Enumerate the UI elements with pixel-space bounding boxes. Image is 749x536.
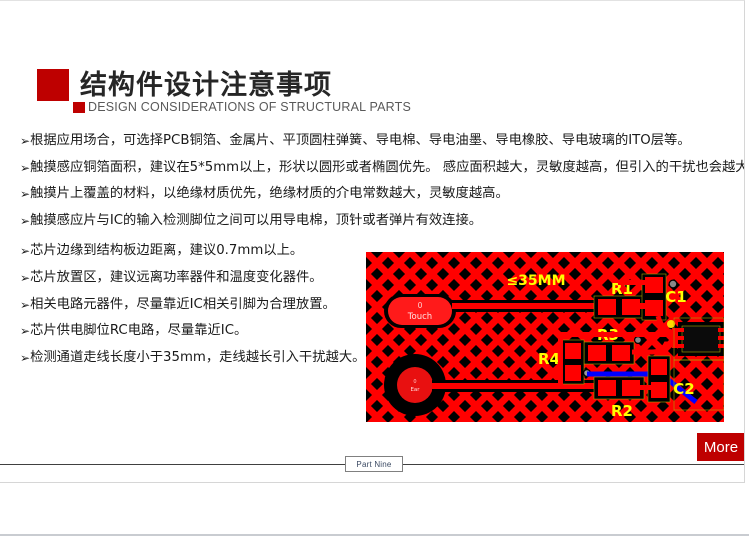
page-title: 结构件设计注意事项 DESIGN CONSIDERATIONS OF STRUC… (37, 67, 517, 119)
bullet-marker-icon: ➢ (20, 243, 30, 259)
slide-canvas: 结构件设计注意事项 DESIGN CONSIDERATIONS OF STRUC… (0, 0, 745, 483)
title-english: DESIGN CONSIDERATIONS OF STRUCTURAL PART… (88, 100, 411, 114)
title-chinese: 结构件设计注意事项 (80, 63, 332, 102)
part-label-badge: Part Nine (345, 456, 403, 472)
bullet-marker-icon: ➢ (20, 350, 30, 366)
part-label-text: Part Nine (356, 460, 391, 469)
subtitle-accent-square (73, 102, 85, 113)
list-item-text: 检测通道走线长度小于35mm，走线越长引入干扰越大。 (30, 350, 365, 367)
more-button[interactable]: More (697, 433, 745, 461)
bullet-marker-icon: ➢ (20, 213, 30, 229)
list-item-text: 根据应用场合，可选择PCB铜箔、金属片、平顶圆柱弹簧、导电棉、导电油墨、导电橡胶… (30, 133, 691, 150)
bullet-marker-icon: ➢ (20, 270, 30, 286)
list-item: ➢ 触摸片上覆盖的材料，以绝缘材质优先，绝缘材质的介电常数越大，灵敏度越高。 (20, 186, 740, 203)
svg-text:≤35MM: ≤35MM (506, 273, 565, 289)
svg-text:C1: C1 (665, 288, 686, 306)
list-item-text: 触摸感应铜箔面积，建议在5*5mm以上，形状以圆形或者椭圆优先。 感应面积越大，… (30, 160, 745, 177)
list-item: ➢ 根据应用场合，可选择PCB铜箔、金属片、平顶圆柱弹簧、导电棉、导电油墨、导电… (20, 133, 740, 150)
list-item-text: 芯片边缘到结构板边距离，建议0.7mm以上。 (30, 243, 303, 260)
list-item-text: 芯片供电脚位RC电路，尽量靠近IC。 (30, 323, 247, 340)
pcb-layout-image: 0 Touch 0 Ear R1 (366, 252, 724, 422)
svg-text:0: 0 (413, 379, 416, 385)
list-item-text: 芯片放置区，建议远离功率器件和温度变化器件。 (30, 270, 323, 287)
svg-text:Ear: Ear (410, 387, 420, 393)
list-item-text: 触摸感应片与IC的输入检测脚位之间可以用导电棉，顶针或者弹片有效连接。 (30, 213, 482, 230)
more-button-label: More (704, 439, 738, 456)
bullet-marker-icon: ➢ (20, 160, 30, 176)
list-item-text: 触摸片上覆盖的材料，以绝缘材质优先，绝缘材质的介电常数越大，灵敏度越高。 (30, 186, 509, 203)
title-accent-square (37, 69, 69, 101)
page-bottom-area (0, 484, 749, 536)
svg-text:Touch: Touch (407, 312, 432, 322)
svg-text:0: 0 (418, 301, 423, 310)
bullet-marker-icon: ➢ (20, 297, 30, 313)
list-item-text: 相关电路元器件，尽量靠近IC相关引脚为合理放置。 (30, 297, 336, 314)
bullet-marker-icon: ➢ (20, 323, 30, 339)
svg-text:R2: R2 (611, 402, 633, 420)
svg-text:C2: C2 (673, 380, 694, 398)
svg-text:R4: R4 (538, 350, 560, 368)
list-item: ➢ 触摸感应铜箔面积，建议在5*5mm以上，形状以圆形或者椭圆优先。 感应面积越… (20, 160, 740, 177)
bullet-marker-icon: ➢ (20, 133, 30, 149)
list-item: ➢ 触摸感应片与IC的输入检测脚位之间可以用导电棉，顶针或者弹片有效连接。 (20, 213, 740, 230)
bullet-marker-icon: ➢ (20, 186, 30, 202)
